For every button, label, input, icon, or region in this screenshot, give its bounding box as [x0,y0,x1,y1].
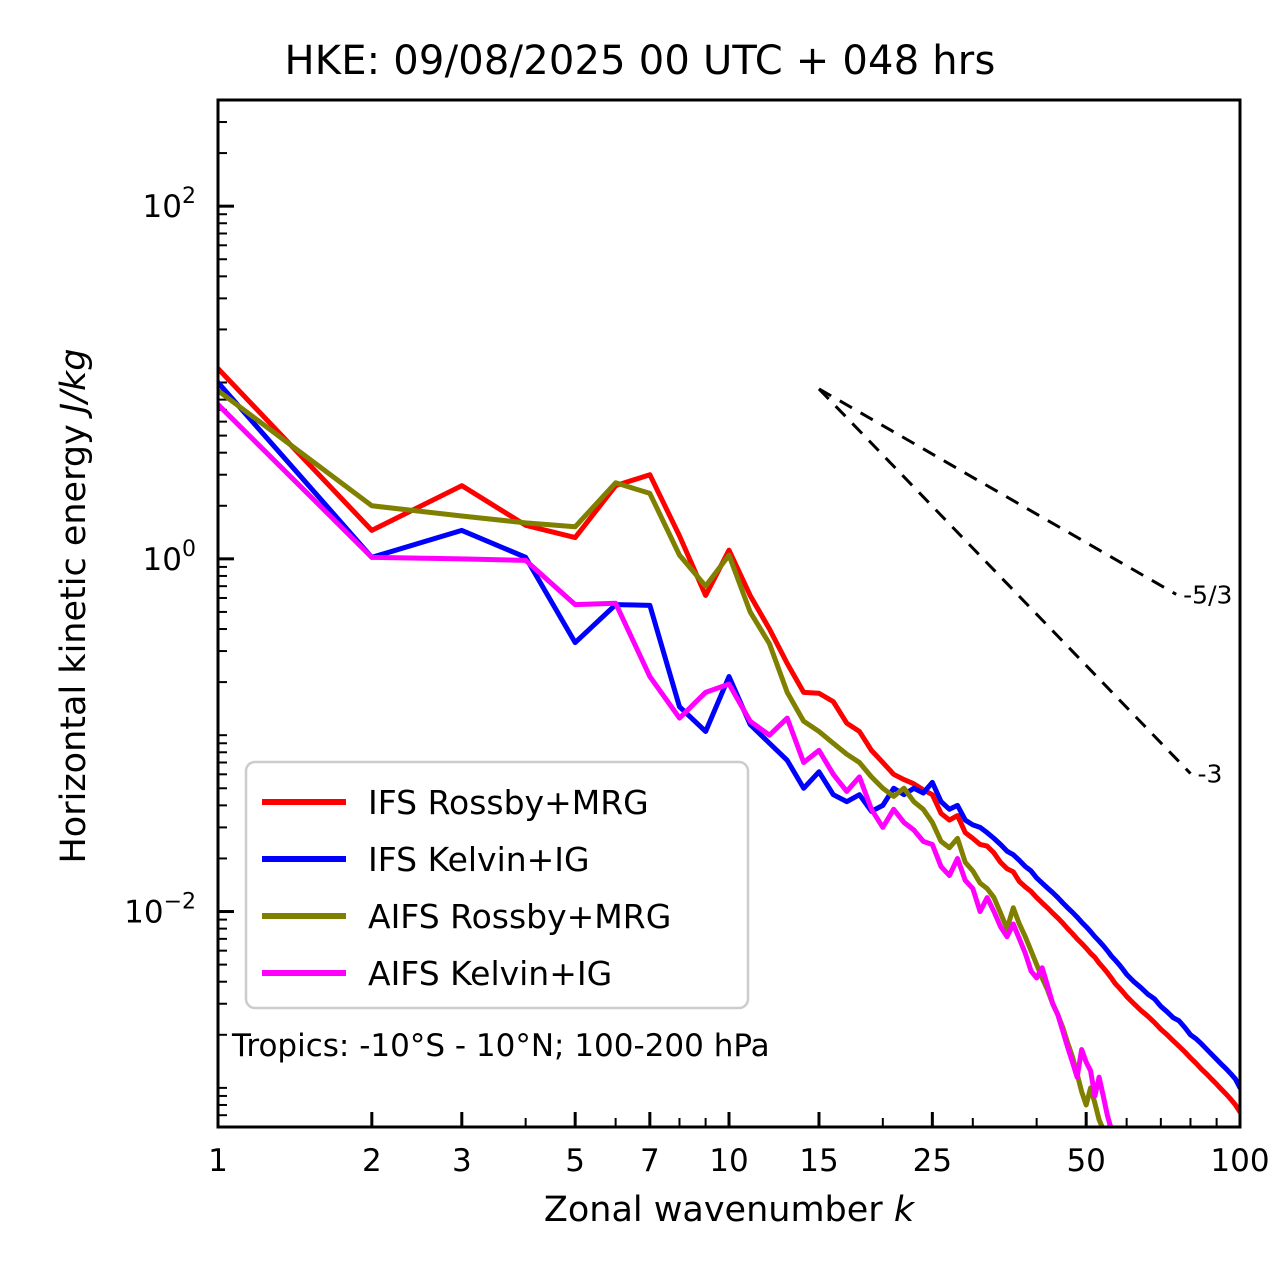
x-tick-label: 10 [709,1143,748,1179]
slope-label: -5/3 [1183,580,1232,609]
y-tick-exponent: −2 [164,890,196,915]
y-tick-label: 100 [143,537,196,578]
slope-label: -3 [1197,759,1222,788]
slope-reference-lines: -5/3-3 [819,389,1232,789]
slope-line--5-3 [819,389,1176,594]
x-tick-label: 50 [1066,1143,1105,1179]
x-tick-label: 7 [640,1143,660,1179]
x-tick-label: 100 [1210,1143,1269,1179]
x-tick-label: 1 [208,1143,228,1179]
plot-svg: 1235710152550100 10210010−2 -5/3-3 IFS R… [0,0,1280,1288]
legend: IFS Rossby+MRGIFS Kelvin+IGAIFS Rossby+M… [246,762,748,1008]
x-tick-label: 3 [452,1143,472,1179]
x-tick-label: 2 [362,1143,382,1179]
x-tick-label: 25 [913,1143,952,1179]
x-tick-label: 15 [799,1143,838,1179]
y-tick-exponent: 2 [182,184,196,209]
legend-label-2: AIFS Rossby+MRG [368,897,671,936]
y-tick-label: 10−2 [124,890,196,931]
region-annotation: Tropics: -10°S - 10°N; 100-200 hPa [231,1028,770,1064]
slope-line--3 [819,389,1190,774]
y-tick-label: 102 [143,184,196,225]
legend-label-3: AIFS Kelvin+IG [368,954,612,993]
legend-label-1: IFS Kelvin+IG [368,840,590,879]
chart-root: HKE: 09/08/2025 00 UTC + 048 hrs Horizon… [0,0,1280,1288]
x-tick-label: 5 [565,1143,585,1179]
legend-label-0: IFS Rossby+MRG [368,783,649,822]
y-tick-exponent: 0 [182,537,196,562]
